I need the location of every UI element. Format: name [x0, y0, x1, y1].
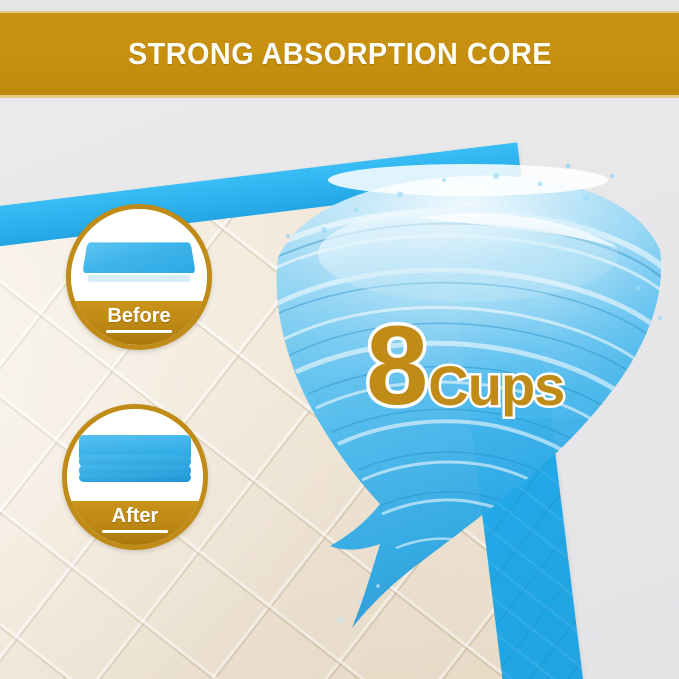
header-banner: STRONG ABSORPTION CORE: [0, 11, 679, 98]
badge-before-footer: Before: [71, 301, 207, 345]
product-scene: 8 Cups Before: [0, 98, 679, 679]
top-gray-strip: [0, 0, 679, 11]
badge-before-photo: [71, 209, 207, 304]
badge-after-footer: After: [67, 501, 203, 545]
badge-before-underline: [106, 330, 172, 333]
folded-blue-pad-stack-icon: [79, 435, 191, 483]
badge-before-label: Before: [107, 305, 170, 327]
badge-before: Before: [66, 204, 212, 350]
product-infographic: STRONG ABSORPTION CORE: [0, 0, 679, 679]
badge-after: After: [62, 404, 208, 550]
page-title: STRONG ABSORPTION CORE: [127, 36, 551, 72]
badge-after-photo: [67, 409, 203, 504]
badge-after-label: After: [112, 505, 159, 527]
flat-blue-pad-icon: [85, 240, 193, 282]
badge-after-underline: [102, 530, 168, 533]
